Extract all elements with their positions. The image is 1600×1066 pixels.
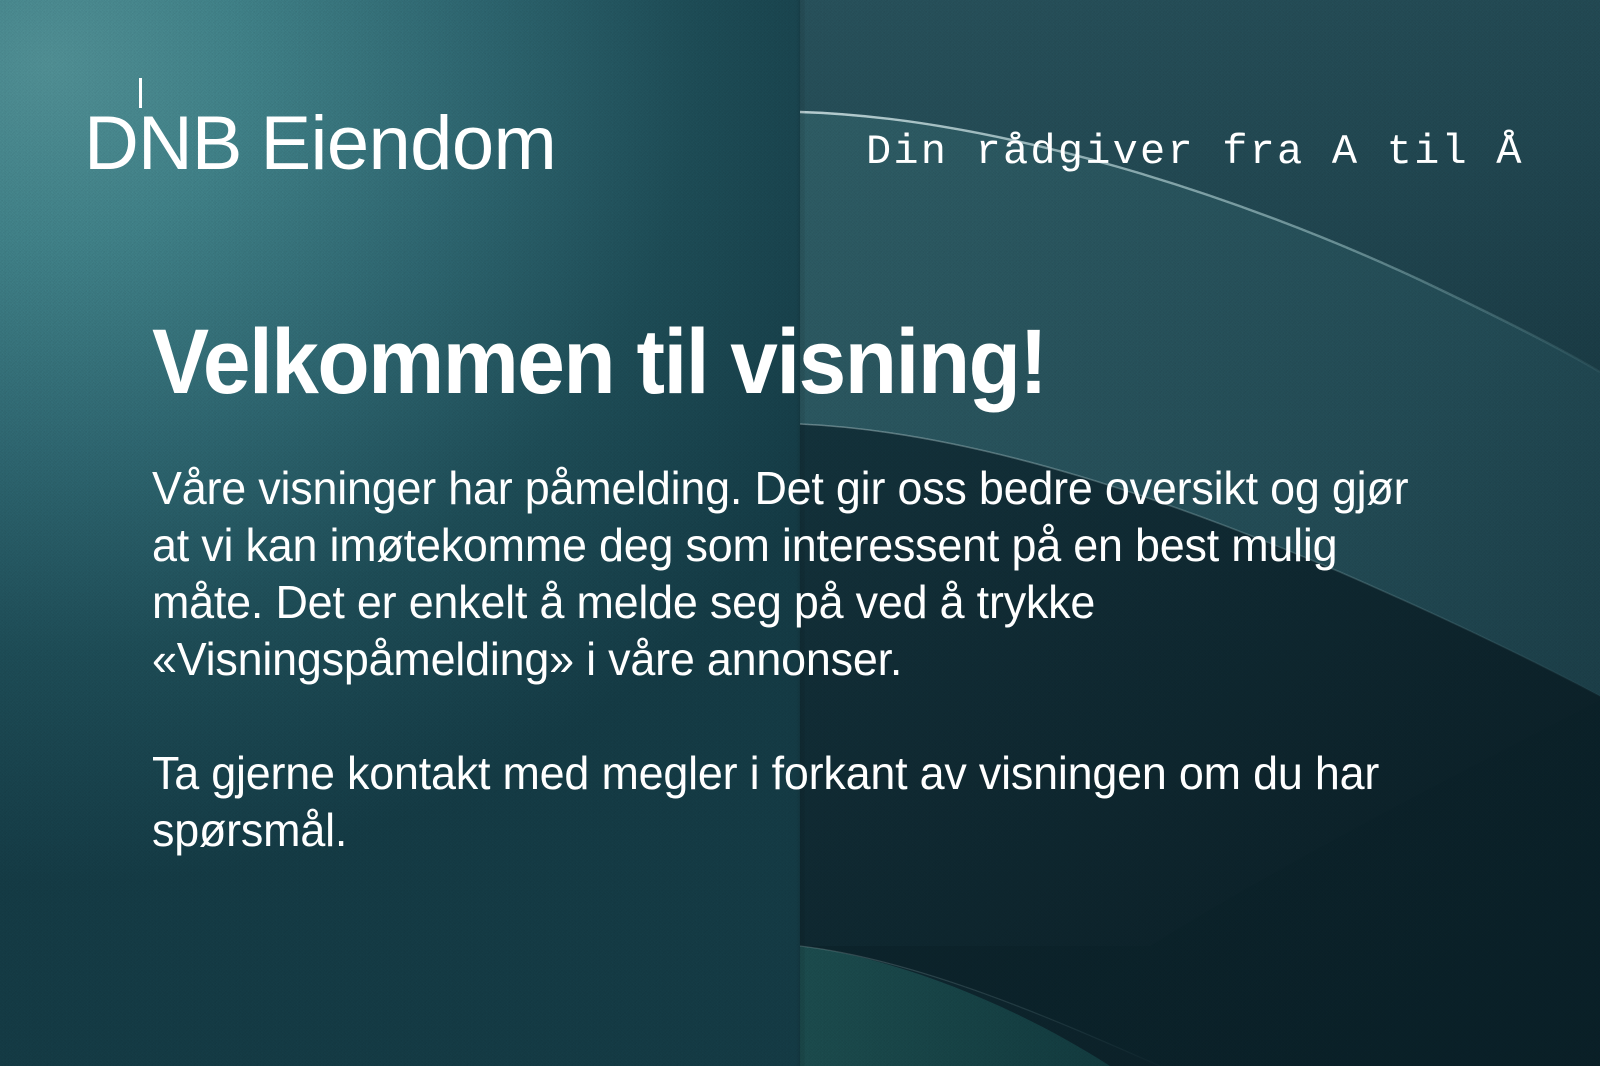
hero-paragraph-2: Ta gjerne kontakt med megler i forkant a… (152, 745, 1420, 859)
poster-canvas: DNBEiendom Din rådgiver fra A til Å Velk… (0, 0, 1600, 1066)
hero-body-copy: Våre visninger har påmelding. Det gir os… (152, 460, 1420, 859)
hero-paragraph-1: Våre visninger har påmelding. Det gir os… (152, 460, 1420, 688)
logo-wordmark: Eiendom (260, 106, 556, 182)
logo-letter-d: D (84, 106, 138, 182)
dnb-eiendom-logo: DNBEiendom (84, 106, 556, 182)
brand-tagline: Din rådgiver fra A til Å (866, 126, 1524, 178)
poster-content: DNBEiendom Din rådgiver fra A til Å Velk… (0, 0, 1600, 1066)
page-title: Velkommen til visning! (152, 312, 1046, 412)
logo-letters-nb: NB (138, 106, 242, 182)
paragraph-gap (152, 688, 1420, 745)
